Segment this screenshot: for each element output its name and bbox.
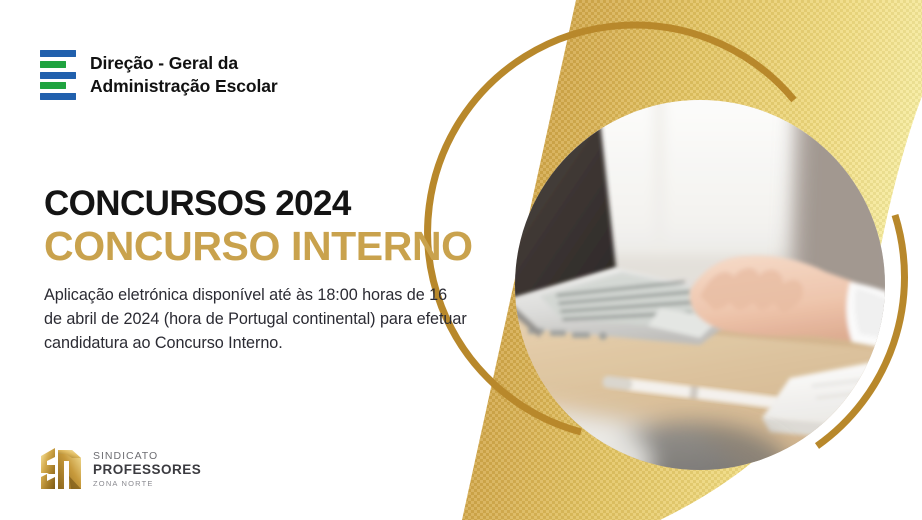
spzn-line-sindicato: SINDICATO [93,451,201,462]
page-title: CONCURSO INTERNO [44,226,514,267]
dgae-header-logo: Direção - Geral da Administração Escolar [40,50,278,100]
dgae-logo-line1: Direção - Geral da [90,52,278,75]
spzn-line-zona-norte: ZONA NORTE [93,480,201,488]
laptop-photo [505,75,905,518]
spzn-logo-text: SINDICATO PROFESSORES ZONA NORTE [93,451,201,488]
dgae-logo-line2: Administração Escolar [90,75,278,98]
spzn-line-professores: PROFESSORES [93,463,201,477]
poster-canvas: Direção - Geral da Administração Escolar… [0,0,922,520]
dgae-logo-text: Direção - Geral da Administração Escolar [90,52,278,98]
headline-block: CONCURSOS 2024 CONCURSO INTERNO Aplicaçã… [44,186,514,356]
body-text: Aplicação eletrónica disponível até às 1… [44,284,469,356]
spzn-footer-logo: SINDICATO PROFESSORES ZONA NORTE [38,444,201,494]
title-kicker: CONCURSOS 2024 [44,186,514,221]
gold-diagonal-band [462,0,922,520]
sq-monogram-icon [38,444,84,494]
dgae-bars-icon [40,50,76,100]
